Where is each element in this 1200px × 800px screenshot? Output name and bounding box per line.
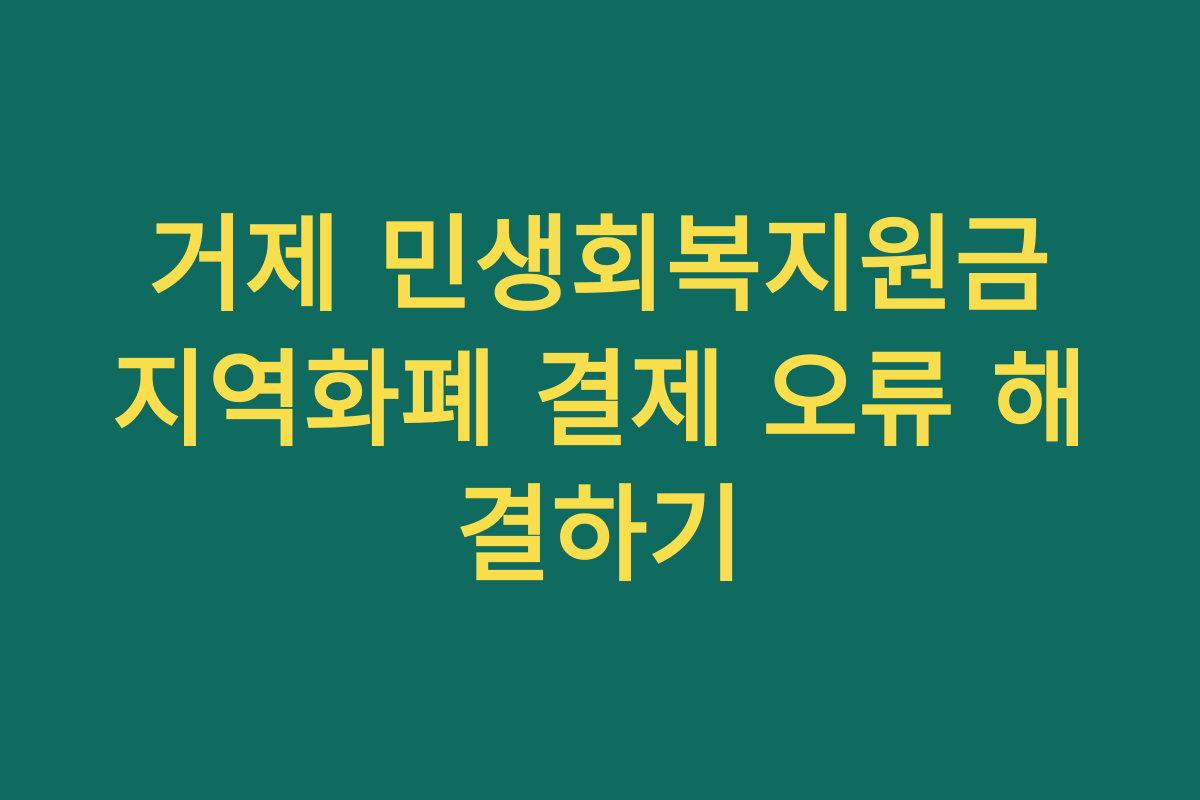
thumbnail-card: 거제 민생회복지원금 지역화폐 결제 오류 해결하기 [0,0,1200,800]
title-block: 거제 민생회복지원금 지역화폐 결제 오류 해결하기 [95,198,1105,603]
page-title: 거제 민생회복지원금 지역화폐 결제 오류 해결하기 [95,198,1105,603]
